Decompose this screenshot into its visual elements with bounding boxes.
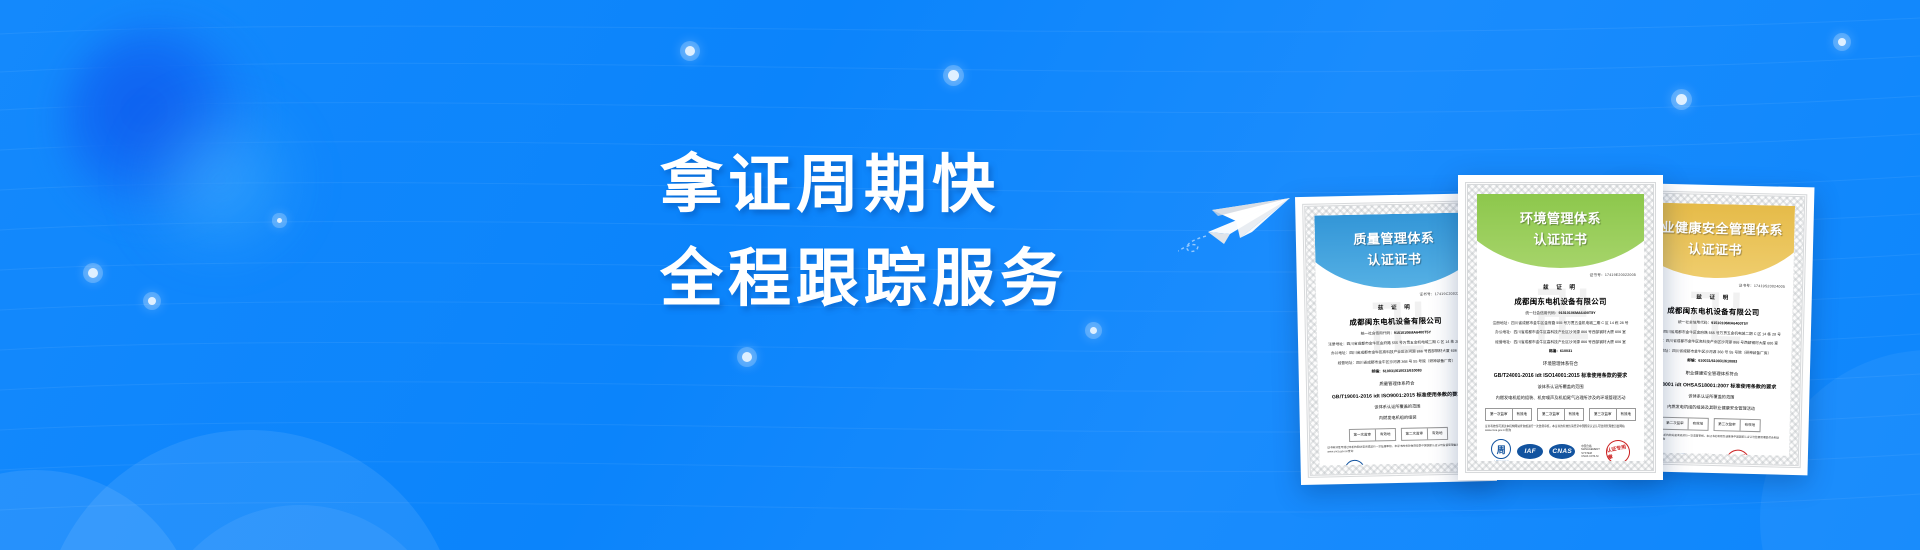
- cnas-accreditation-note: 中国合格MANAGEMENTSYSTEMCNAS C074-M: [1581, 445, 1600, 459]
- certificate-scope-text: 内燃发电机组的组装: [1319, 413, 1477, 422]
- certificate-title-line1: 质量管理体系: [1315, 226, 1473, 248]
- certificate-watermark: 卍: [1684, 270, 1742, 358]
- certificate-fine-print: 证书有效性可通过本机构网站查询或进行一次监督审核，本证书的有效性请登录中国国家认…: [1477, 421, 1644, 432]
- headline-block: 拿证周期快 全程跟踪服务: [660, 138, 1068, 326]
- certificate-title-line2: 认证证书: [1315, 247, 1473, 269]
- headline-line-2: 全程跟踪服务: [660, 232, 1068, 326]
- promo-banner: 拿证周期快 全程跟踪服务 质量管理: [0, 0, 1920, 550]
- certificate-audit-boxes: 第一次监审有效地 第二次监审有效地 第三次监审有效地: [1477, 408, 1644, 421]
- certificate-logos: 周 中国认证认可 IAF CNAS 中国合格MANAGEMENTSYSTEMCN…: [1477, 439, 1644, 461]
- certificate-system-label: 质量管理体系符合: [1318, 379, 1476, 388]
- certificate-title-line1: 环境管理体系: [1477, 208, 1644, 227]
- headline-line-1: 拿证周期快: [660, 138, 1068, 232]
- certificate-header-banner: 环境管理体系 认证证书: [1477, 194, 1644, 268]
- certificate-postcode: 邮编：610031/610031/610083: [1318, 368, 1476, 377]
- certificate-title-line2: 认证证书: [1477, 229, 1644, 248]
- decor-dot: [948, 70, 959, 81]
- paper-plane-icon: [1178, 176, 1308, 263]
- decor-dot: [148, 297, 156, 305]
- certificate-title: 环境管理体系 认证证书: [1477, 208, 1644, 248]
- certificate-scope-label: 该体系认证所覆盖的范围: [1318, 402, 1476, 411]
- decor-dot: [1838, 38, 1846, 46]
- certificate-border: 环境管理体系 认证证书 卍 证书号：17419E20022005 兹 证 明 成…: [1465, 182, 1656, 473]
- cnca-logo-wrap: 周 中国认证认可: [1491, 439, 1511, 461]
- certificate-card-environment[interactable]: 环境管理体系 认证证书 卍 证书号：17419E20022005 兹 证 明 成…: [1458, 175, 1663, 480]
- certificate-standard: GB/T24001-2016 idt ISO14001:2015 标准使用条款的…: [1477, 372, 1644, 379]
- certificate-fine-print: 证书有效性可通过本机构网站查询或进行一次监督审核。本证书的有效性请登录中国国家认…: [1319, 439, 1477, 453]
- certificate-watermark: 卍: [1533, 268, 1589, 355]
- certificate-content: 质量管理体系 认证证书 卍 证书号：17419C20022005 兹 证 明 成…: [1314, 212, 1477, 465]
- red-stamp: 认证专用章: [1604, 437, 1632, 461]
- decor-dot: [88, 268, 98, 278]
- decor-dot: [742, 352, 752, 362]
- cnas-logo: CNAS: [1549, 444, 1575, 459]
- certificate-group: 质量管理体系 认证证书 卍 证书号：17419C20022005 兹 证 明 成…: [1290, 80, 1920, 500]
- certificate-content: 环境管理体系 认证证书 卍 证书号：17419E20022005 兹 证 明 成…: [1477, 194, 1644, 461]
- certificate-watermark: 卍: [1367, 280, 1425, 368]
- decor-dot: [685, 46, 695, 56]
- cnca-logo-caption: 中国认证认可: [1491, 460, 1511, 461]
- certificate-title: 质量管理体系 认证证书: [1315, 226, 1474, 269]
- certificate-standard: GB/T19001-2016 idt ISO9001:2015 标准使用条款的要…: [1318, 390, 1476, 400]
- cnca-logo: 周: [1491, 439, 1511, 459]
- certificate-system-label: 环境管理体系符合: [1477, 361, 1644, 367]
- iaf-logo: IAF: [1517, 444, 1543, 459]
- decor-dot: [277, 218, 282, 223]
- certificate-scope-text: 内燃发电机组的组装、机房噪声及机组尾气治理所涉及的环境管理活动: [1477, 395, 1644, 401]
- certificate-header-banner: 质量管理体系 认证证书: [1314, 212, 1474, 289]
- certificate-scope-label: 该体系认证所覆盖的范围: [1477, 384, 1644, 390]
- decor-soft-glow: [120, 100, 320, 260]
- decor-dot: [1090, 327, 1097, 334]
